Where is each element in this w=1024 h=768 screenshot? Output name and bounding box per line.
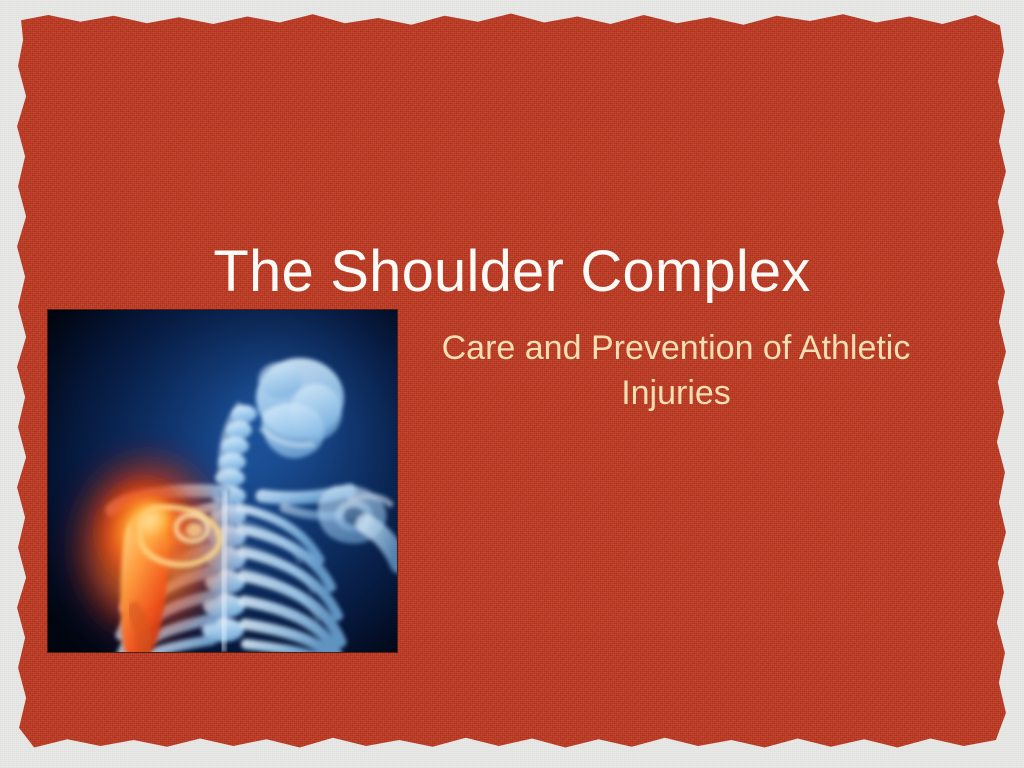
- page-subtitle: Care and Prevention of Athletic Injuries: [396, 326, 956, 416]
- shoulder-xray-image: [48, 310, 397, 652]
- page-title: The Shoulder Complex: [120, 238, 904, 306]
- shoulder-xray-graphic: [48, 310, 397, 652]
- title-slide: The Shoulder Complex Care and Prevention…: [0, 0, 1024, 768]
